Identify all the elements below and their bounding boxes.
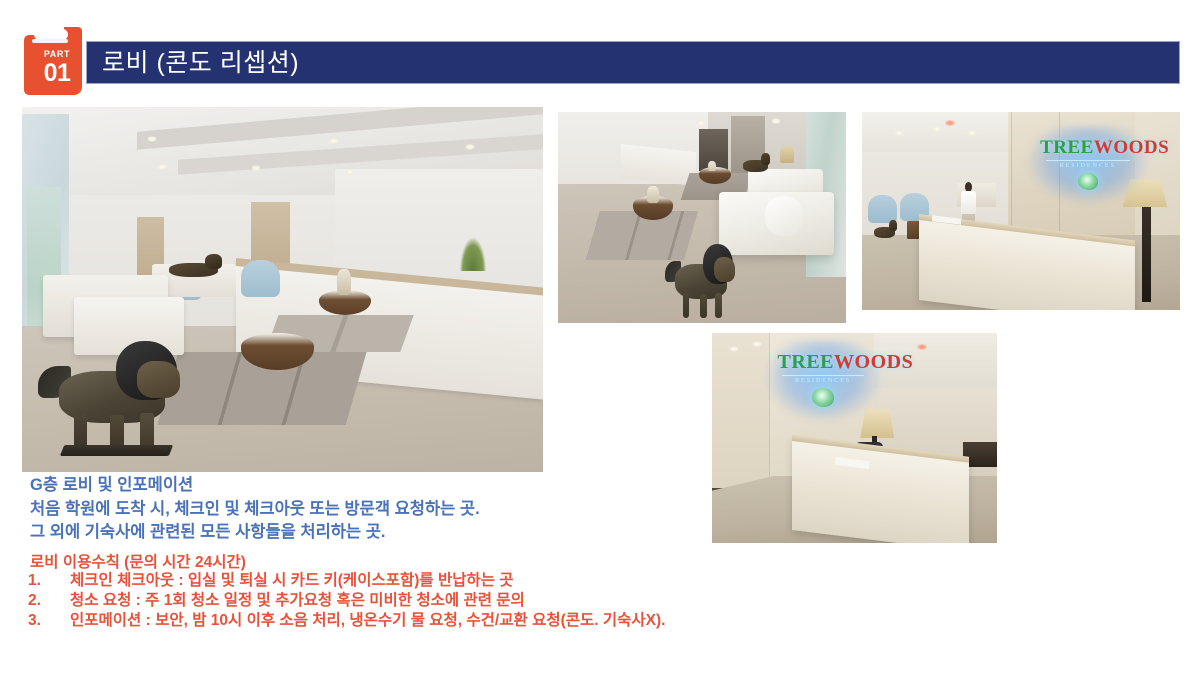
- sign-subtitle: RESIDENCES: [778, 378, 869, 384]
- slide-root: PART 01 로비 (콘도 리셉션): [0, 0, 1200, 675]
- sign-emblem-icon: [1078, 173, 1098, 190]
- description-line-3: 그 외에 기숙사에 관련된 모든 사항들을 처리하는 곳.: [30, 521, 480, 545]
- lion-statue: [38, 333, 189, 457]
- photo-lobby-overview: [22, 107, 543, 472]
- treewoods-sign: TREEWOODS RESIDENCES: [778, 352, 869, 407]
- treewoods-sign: TREEWOODS RESIDENCES: [1040, 138, 1135, 190]
- rule-item: 2. 청소 요청 : 주 1회 청소 일정 및 추가요청 혹은 미비한 청소에 …: [28, 588, 665, 608]
- rule-item: 3. 인포메이션 : 보안, 밤 10시 이후 소음 처리, 냉온수기 물 요청…: [28, 608, 665, 628]
- rule-text: 인포메이션 : 보안, 밤 10시 이후 소음 처리, 냉온수기 물 요청, 수…: [70, 608, 665, 630]
- photo-reception-desk-bottom: TREEWOODS RESIDENCES: [712, 333, 997, 543]
- rule-text: 체크인 체크아웃 : 입실 및 퇴실 시 카드 키(케이스포함)를 반납하는 곳: [70, 568, 514, 590]
- sign-word-tree: TREE: [1040, 137, 1094, 158]
- sign-word-woods: WOODS: [1094, 137, 1169, 158]
- horse-statue: [163, 253, 231, 286]
- rule-number: 1.: [28, 572, 70, 590]
- lion-statue: [665, 239, 740, 323]
- part-label: PART: [35, 49, 79, 59]
- part-badge: PART 01: [24, 27, 82, 95]
- sign-word-tree: TREE: [778, 351, 834, 373]
- description-line-2: 처음 학원에 도착 시, 체크인 및 체크아웃 또는 방문객 요청하는 곳.: [30, 498, 480, 522]
- photo-reception-desk-right: TREEWOODS RESIDENCES: [862, 112, 1180, 310]
- rule-number: 3.: [28, 612, 70, 630]
- rule-number: 2.: [28, 592, 70, 610]
- part-number: 01: [35, 60, 79, 87]
- page-title: 로비 (콘도 리셉션): [102, 43, 299, 83]
- rule-item: 1. 체크인 체크아웃 : 입실 및 퇴실 시 카드 키(케이스포함)를 반납하…: [28, 568, 665, 588]
- photo-lobby-wide: [558, 112, 846, 323]
- rules-list: 1. 체크인 체크아웃 : 입실 및 퇴실 시 카드 키(케이스포함)를 반납하…: [28, 568, 665, 628]
- sign-word-woods: WOODS: [834, 351, 913, 373]
- rule-text: 청소 요청 : 주 1회 청소 일정 및 추가요청 혹은 미비한 청소에 관련 …: [70, 588, 525, 610]
- book-page-shadow-icon: [32, 39, 68, 43]
- sign-subtitle: RESIDENCES: [1040, 163, 1135, 169]
- sign-emblem-icon: [812, 388, 834, 407]
- horse-statue: [739, 152, 774, 179]
- description-line-1: G층 로비 및 인포메이션: [30, 474, 480, 498]
- description-block: G층 로비 및 인포메이션 처음 학원에 도착 시, 체크인 및 체크아웃 또는…: [30, 474, 480, 545]
